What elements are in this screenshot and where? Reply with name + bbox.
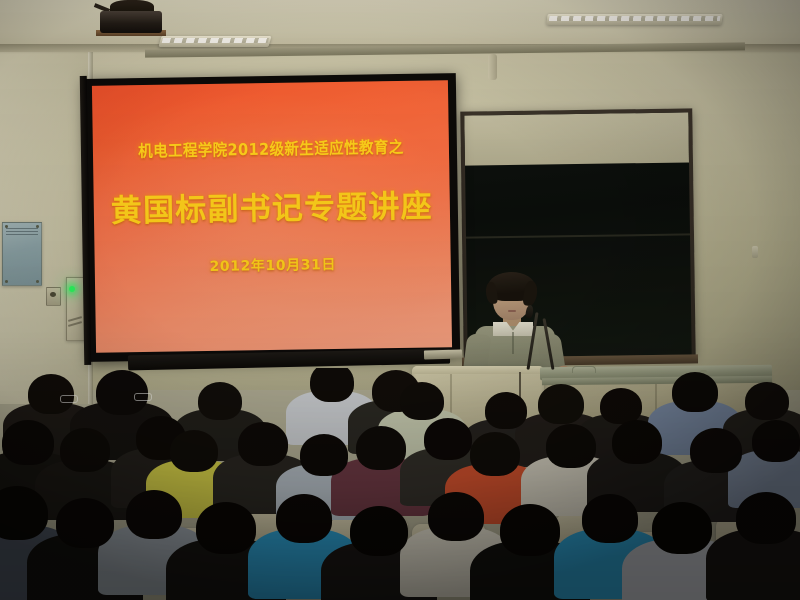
projection-screen: 机电工程学院2012级新生适应性教育之 黄国标副书记专题讲座 2012年10月3… <box>84 73 460 362</box>
audience-member-head <box>672 372 718 412</box>
fluorescent-light-right-icon <box>546 14 722 25</box>
audience-member-head <box>196 502 256 554</box>
audience-member-head <box>238 422 288 466</box>
presenter <box>455 272 575 372</box>
audience-member-head <box>56 498 114 548</box>
audience-seating-area <box>0 368 800 600</box>
audience-member-head <box>356 426 406 470</box>
wall-conduit <box>488 54 497 80</box>
audience-member-head <box>500 504 560 556</box>
notice-screw <box>5 225 8 228</box>
audience-member-head <box>485 392 527 429</box>
audience-member-head <box>652 502 712 554</box>
audience-member-head <box>428 492 484 541</box>
audience-member-head <box>600 388 642 424</box>
audience-member-head <box>300 434 348 476</box>
light-switch[interactable] <box>46 287 61 306</box>
audience-member-head <box>470 432 520 476</box>
audience-member-head <box>310 368 354 402</box>
ceiling-projector-icon <box>92 0 168 34</box>
notice-screw <box>5 280 8 283</box>
audience-member-head <box>198 382 242 420</box>
audience-member-head <box>612 420 662 464</box>
audience-member-head <box>424 418 472 460</box>
audience-member-head <box>60 428 110 472</box>
presenter-mouth <box>508 310 516 312</box>
audience-member-head <box>2 420 54 465</box>
audience-member-head <box>400 382 444 420</box>
notice-screw <box>36 225 39 228</box>
audience-member-head <box>126 490 182 539</box>
slide-title: 黄国标副书记专题讲座 <box>93 180 450 231</box>
audience-member-head <box>170 430 218 472</box>
audience-member-head <box>546 424 596 468</box>
notice-screw <box>36 280 39 283</box>
blackboard-upper-panel <box>464 112 689 165</box>
audience-member-head <box>752 420 800 462</box>
wall-notice-plaque <box>2 222 42 286</box>
projection-screen-surface: 机电工程学院2012级新生适应性教育之 黄国标副书记专题讲座 2012年10月3… <box>92 80 452 353</box>
presenter-shirt-placket <box>512 332 514 354</box>
wall-hook-icon <box>752 246 758 258</box>
audience-member-glasses-icon <box>134 393 152 401</box>
power-led-indicator-icon <box>69 286 75 292</box>
audience-member-glasses-icon <box>60 395 78 403</box>
audience-member-head <box>538 384 584 424</box>
lecture-hall-photo: 机电工程学院2012级新生适应性教育之 黄国标副书记专题讲座 2012年10月3… <box>0 0 800 600</box>
notice-text-lines <box>6 228 38 236</box>
audience-member-head <box>350 506 408 556</box>
audience-member-head <box>736 492 796 544</box>
audience-member-head <box>582 494 638 543</box>
projector-body <box>100 11 162 33</box>
audience-member-head <box>690 428 742 473</box>
audience-member-head <box>745 382 789 420</box>
audience-member-head <box>276 494 332 543</box>
fluorescent-light-left-icon <box>158 36 271 47</box>
